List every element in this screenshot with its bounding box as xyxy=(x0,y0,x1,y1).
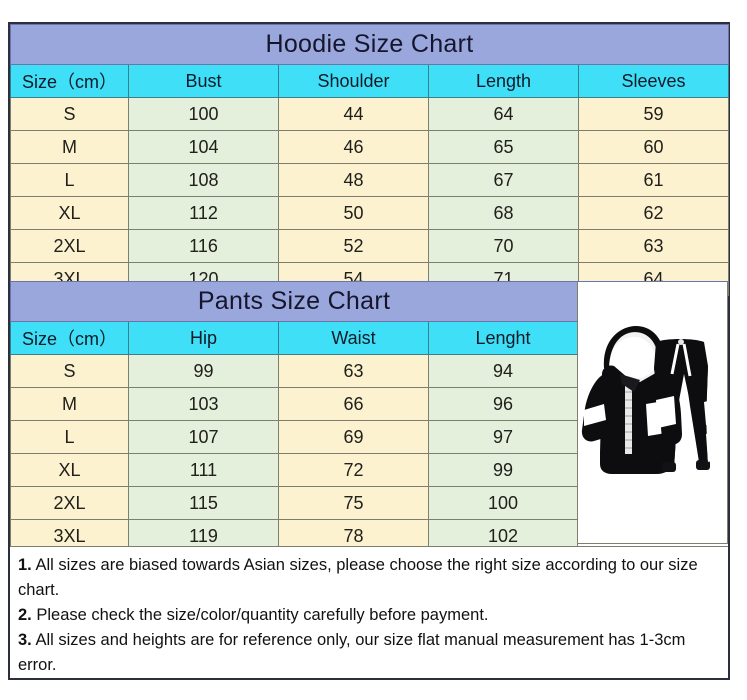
hoodie-col-length: Length xyxy=(429,65,579,98)
hoodie-title-row: Hoodie Size Chart xyxy=(11,25,729,65)
cell-sleeves: 59 xyxy=(579,98,729,131)
cell-shoulder: 46 xyxy=(279,131,429,164)
cell-shoulder: 52 xyxy=(279,230,429,263)
table-row: XL 112 50 68 62 xyxy=(11,197,729,230)
size-chart-frame: Hoodie Size Chart Size（cm） Bust Shoulder… xyxy=(8,22,730,680)
size-chart-page: Hoodie Size Chart Size（cm） Bust Shoulder… xyxy=(0,0,747,700)
cell-bust: 108 xyxy=(129,164,279,197)
note-number: 3. xyxy=(18,631,32,649)
table-row: M 104 46 65 60 xyxy=(11,131,729,164)
hoodie-header-row: Size（cm） Bust Shoulder Length Sleeves xyxy=(11,65,729,98)
table-row: L 107 69 97 xyxy=(11,421,578,454)
cell-length: 99 xyxy=(429,454,578,487)
table-row: S 100 44 64 59 xyxy=(11,98,729,131)
cell-waist: 72 xyxy=(279,454,429,487)
cell-sleeves: 63 xyxy=(579,230,729,263)
table-row: XL 111 72 99 xyxy=(11,454,578,487)
cell-hip: 111 xyxy=(129,454,279,487)
hoodie-col-bust: Bust xyxy=(129,65,279,98)
pants-size-table: Pants Size Chart Size（cm） Hip Waist Leng… xyxy=(10,281,578,553)
table-row: M 103 66 96 xyxy=(11,388,578,421)
note-number: 1. xyxy=(18,556,32,574)
cell-waist: 69 xyxy=(279,421,429,454)
pants-title: Pants Size Chart xyxy=(11,282,578,322)
pants-title-row: Pants Size Chart xyxy=(11,282,578,322)
cell-hip: 115 xyxy=(129,487,279,520)
pants-col-size: Size（cm） xyxy=(11,322,129,355)
hoodie-col-shoulder: Shoulder xyxy=(279,65,429,98)
cell-size: L xyxy=(11,421,129,454)
table-row: 2XL 115 75 100 xyxy=(11,487,578,520)
cell-size: S xyxy=(11,355,129,388)
pants-col-hip: Hip xyxy=(129,322,279,355)
cell-sleeves: 62 xyxy=(579,197,729,230)
cell-size: 2XL xyxy=(11,487,129,520)
cell-size: M xyxy=(11,131,129,164)
product-photo xyxy=(577,281,728,544)
cell-bust: 116 xyxy=(129,230,279,263)
cell-shoulder: 44 xyxy=(279,98,429,131)
table-row: 2XL 116 52 70 63 xyxy=(11,230,729,263)
cell-length: 68 xyxy=(429,197,579,230)
note-number: 2. xyxy=(18,606,32,624)
cell-shoulder: 50 xyxy=(279,197,429,230)
cell-size: XL xyxy=(11,197,129,230)
cell-size: 2XL xyxy=(11,230,129,263)
cell-waist: 63 xyxy=(279,355,429,388)
hoodie-title: Hoodie Size Chart xyxy=(11,25,729,65)
cell-waist: 66 xyxy=(279,388,429,421)
cell-length: 70 xyxy=(429,230,579,263)
cell-hip: 107 xyxy=(129,421,279,454)
cell-shoulder: 48 xyxy=(279,164,429,197)
cell-hip: 103 xyxy=(129,388,279,421)
table-row: L 108 48 67 61 xyxy=(11,164,729,197)
pants-col-length: Lenght xyxy=(429,322,578,355)
hoodie-col-size: Size（cm） xyxy=(11,65,129,98)
cell-length: 67 xyxy=(429,164,579,197)
hoodie-col-sleeves: Sleeves xyxy=(579,65,729,98)
note-item: 2. Please check the size/color/quantity … xyxy=(18,603,720,628)
hoodie-size-chart-section: Hoodie Size Chart Size（cm） Bust Shoulder… xyxy=(10,24,728,296)
cell-size: S xyxy=(11,98,129,131)
pants-col-waist: Waist xyxy=(279,322,429,355)
note-text: All sizes and heights are for reference … xyxy=(18,631,690,674)
cell-sleeves: 61 xyxy=(579,164,729,197)
cell-length: 96 xyxy=(429,388,578,421)
table-row: S 99 63 94 xyxy=(11,355,578,388)
cell-hip: 99 xyxy=(129,355,279,388)
cell-sleeves: 60 xyxy=(579,131,729,164)
hoodie-size-table: Hoodie Size Chart Size（cm） Bust Shoulder… xyxy=(10,24,729,296)
cell-size: M xyxy=(11,388,129,421)
size-notes: 1. All sizes are biased towards Asian si… xyxy=(10,546,728,678)
cell-length: 64 xyxy=(429,98,579,131)
note-text: All sizes are biased towards Asian sizes… xyxy=(18,556,702,599)
cell-length: 100 xyxy=(429,487,578,520)
cell-length: 97 xyxy=(429,421,578,454)
note-item: 3. All sizes and heights are for referen… xyxy=(18,628,720,678)
cell-bust: 104 xyxy=(129,131,279,164)
pants-header-row: Size（cm） Hip Waist Lenght xyxy=(11,322,578,355)
note-item: 1. All sizes are biased towards Asian si… xyxy=(18,553,720,603)
cell-size: XL xyxy=(11,454,129,487)
cell-length: 65 xyxy=(429,131,579,164)
pants-and-photo-section: Pants Size Chart Size（cm） Hip Waist Leng… xyxy=(10,281,728,546)
cell-waist: 75 xyxy=(279,487,429,520)
cell-length: 94 xyxy=(429,355,578,388)
tracksuit-illustration xyxy=(578,282,727,543)
cell-size: L xyxy=(11,164,129,197)
note-text: Please check the size/color/quantity car… xyxy=(32,606,489,624)
pants-size-chart-section: Pants Size Chart Size（cm） Hip Waist Leng… xyxy=(10,281,577,553)
cell-bust: 112 xyxy=(129,197,279,230)
cell-bust: 100 xyxy=(129,98,279,131)
